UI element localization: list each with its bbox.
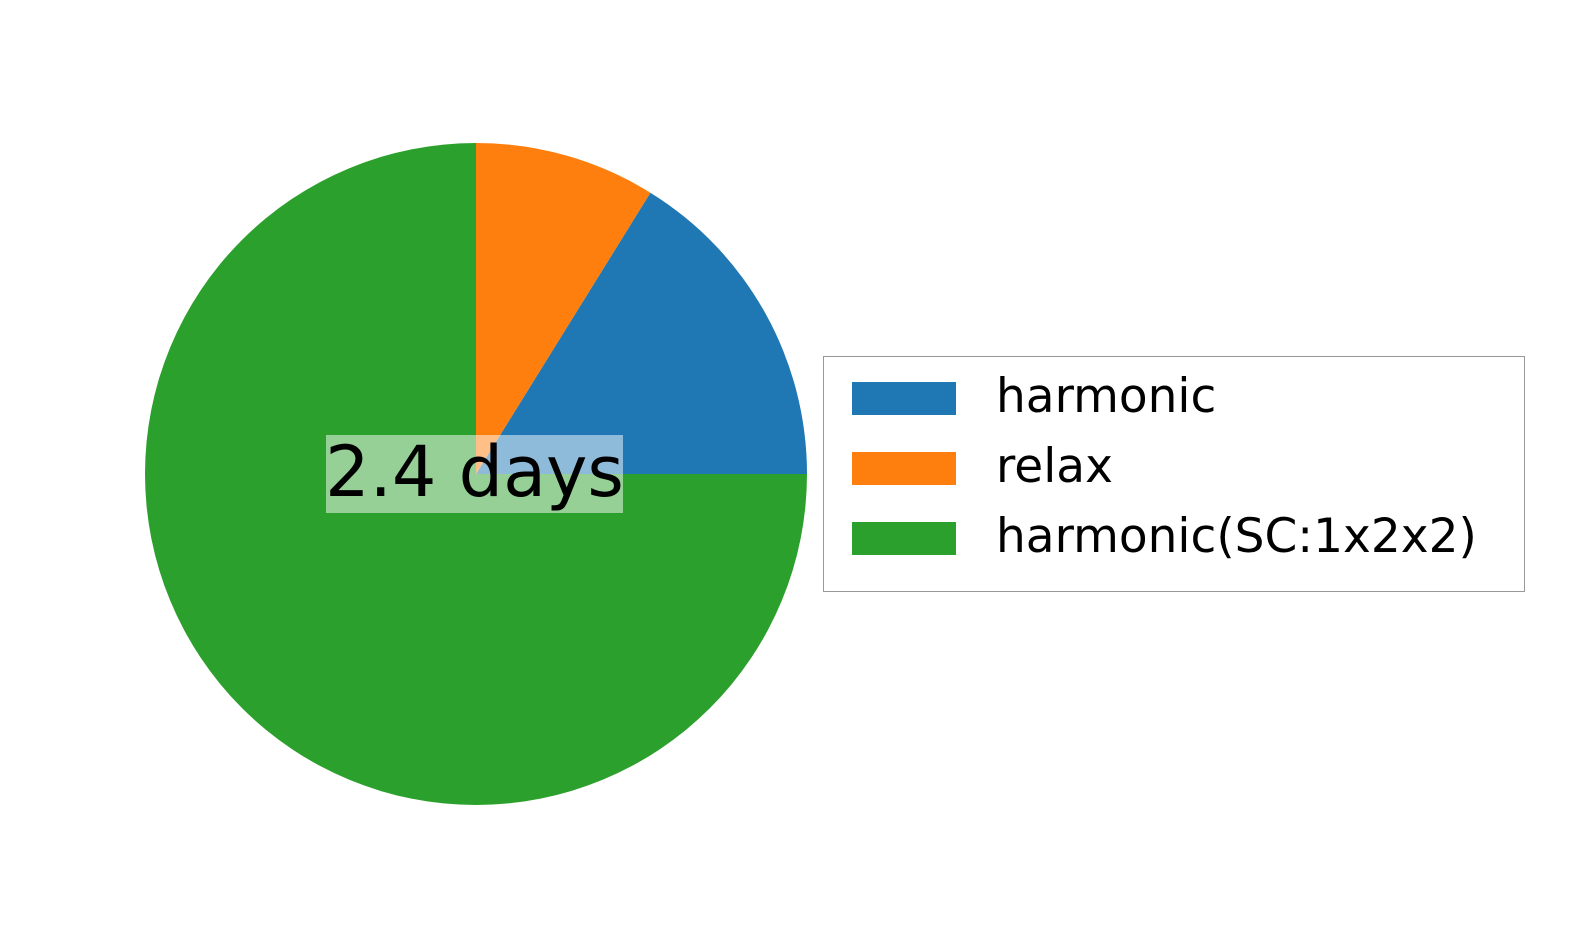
legend-label: harmonic <box>996 373 1216 423</box>
legend-item-harmonic[interactable]: harmonic <box>852 375 1216 421</box>
legend-label: harmonic(SC:1x2x2) <box>996 513 1477 563</box>
legend-swatch-icon <box>852 452 956 485</box>
pie-chart-figure: 2.4 days harmonic relax harmonic(SC:1x2x… <box>0 0 1584 951</box>
legend: harmonic relax harmonic(SC:1x2x2) <box>823 356 1525 592</box>
legend-swatch-icon <box>852 382 956 415</box>
legend-swatch-icon <box>852 522 956 555</box>
center-annotation: 2.4 days <box>326 435 623 513</box>
center-annotation-text: 2.4 days <box>325 437 624 511</box>
legend-item-harmonic-sc[interactable]: harmonic(SC:1x2x2) <box>852 515 1477 561</box>
legend-label: relax <box>996 443 1113 493</box>
legend-item-relax[interactable]: relax <box>852 445 1113 491</box>
